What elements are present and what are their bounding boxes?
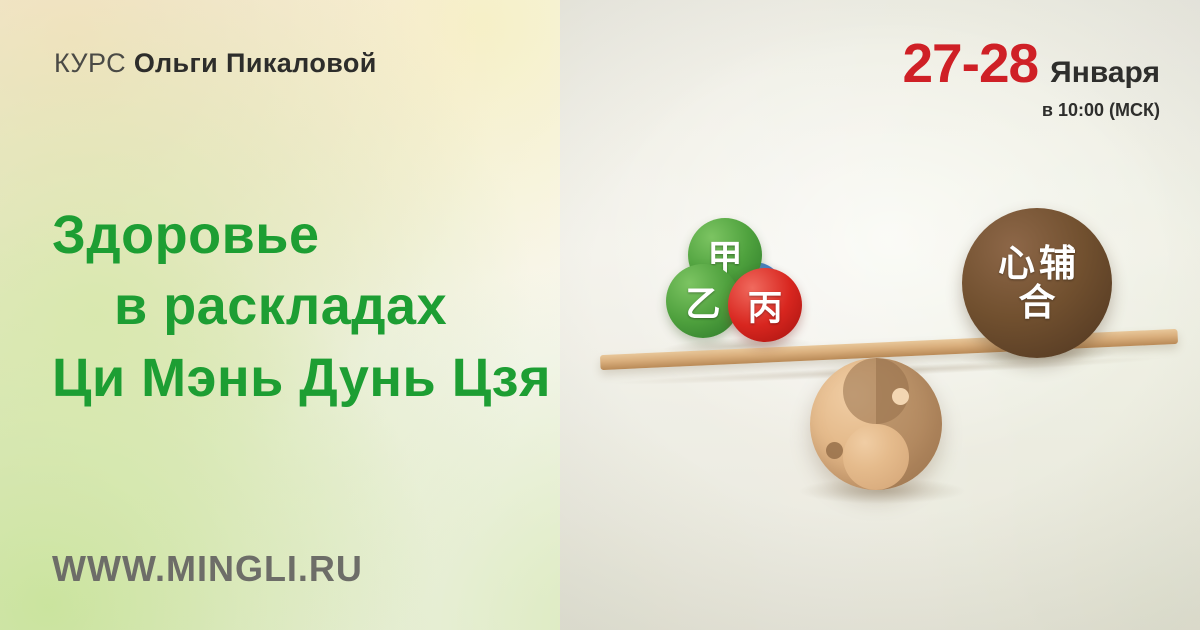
stone-brown-glyph-grid: 心 辅 合 [998, 245, 1076, 321]
yin-yang-ball [810, 358, 942, 490]
stone-green-left-glyph: 乙 [685, 276, 720, 327]
event-date-number: 27-28 [902, 36, 1038, 91]
stone-brown: 心 辅 合 [962, 208, 1112, 358]
event-date-row: 27-28 Января [902, 36, 1160, 91]
event-date-block: 27-28 Января в 10:00 (МСК) [902, 36, 1160, 119]
stone-red-glyph: 丙 [747, 280, 782, 331]
event-date-month: Января [1050, 58, 1160, 88]
website-url: WWW.MINGLI.RU [52, 548, 363, 590]
stone-brown-glyph-2: 辅 [1039, 245, 1076, 282]
balance-illustration: 甲 壬 乙 丙 心 辅 合 [560, 170, 1200, 570]
yin-half [876, 358, 942, 490]
title-line-1: Здоровье [52, 200, 551, 271]
course-author-line: КУРС Ольги Пикаловой [54, 48, 377, 79]
stone-brown-glyph-1: 心 [998, 245, 1035, 282]
page-title: Здоровье в раскладах Ци Мэнь Дунь Цзя [52, 200, 551, 414]
promo-poster: КУРС Ольги Пикаловой 27-28 Января в 10:0… [0, 0, 1200, 630]
title-line-2: в раскладах [52, 271, 551, 342]
stone-brown-glyph-3: 合 [998, 284, 1076, 321]
stone-red: 丙 [728, 268, 802, 342]
course-prefix-label: КУРС [54, 48, 126, 78]
event-start-time: в 10:00 (МСК) [902, 101, 1160, 119]
yin-dot [826, 442, 843, 459]
yang-dot [892, 388, 909, 405]
course-author-name: Ольги Пикаловой [134, 48, 377, 78]
title-line-3: Ци Мэнь Дунь Цзя [52, 343, 551, 414]
